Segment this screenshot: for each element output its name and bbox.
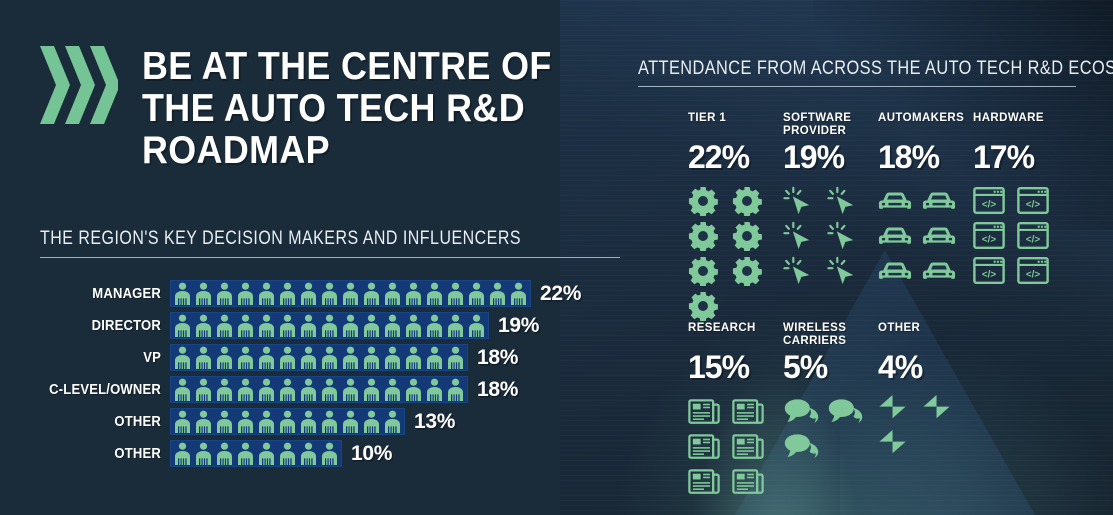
lightning-bolt-icon [878, 393, 922, 428]
person-icon [193, 314, 214, 337]
person-icon [277, 346, 298, 369]
person-icon [256, 346, 277, 369]
code-window-icon: </> [1017, 218, 1061, 253]
person-icon [235, 346, 256, 369]
person-icon [319, 282, 340, 305]
person-icon [403, 378, 424, 401]
person-icon [403, 346, 424, 369]
ecosystem-icon-group [688, 183, 776, 323]
bar-row-track [170, 344, 468, 371]
person-icon [193, 282, 214, 305]
person-icon [340, 282, 361, 305]
person-icon [319, 378, 340, 401]
cursor-click-icon [827, 253, 871, 288]
person-icon [445, 346, 466, 369]
code-window-icon: </> [973, 253, 1017, 288]
person-icon [382, 346, 403, 369]
ecosystem-icon-group [878, 393, 966, 463]
ecosystem-category-value: 4% [878, 350, 973, 384]
code-window-icon: </> [1017, 253, 1061, 288]
ecosystem-category: TIER 122% [688, 112, 783, 323]
person-icon [382, 410, 403, 433]
person-icon [172, 410, 193, 433]
ecosystem-category-label: WIRELESS CARRIERS [783, 322, 878, 348]
ecosystem-category: AUTOMAKERS18% [878, 112, 973, 323]
gear-icon [688, 183, 732, 218]
person-icon [298, 314, 319, 337]
person-icon [424, 314, 445, 337]
ecosystem-category-value: 22% [688, 140, 783, 174]
car-icon [922, 218, 966, 253]
code-window-icon: </> [1017, 183, 1061, 218]
person-icon [235, 314, 256, 337]
bar-row-label: VP [17, 350, 170, 366]
person-icon [361, 378, 382, 401]
person-icon [172, 314, 193, 337]
person-icon [445, 314, 466, 337]
triple-chevron-right-icon [40, 46, 118, 124]
bar-row-label: OTHER [17, 446, 170, 462]
person-icon [466, 282, 487, 305]
person-icon [319, 314, 340, 337]
speech-bubble-icon [783, 393, 827, 428]
person-icon [256, 442, 277, 465]
person-icon [382, 282, 403, 305]
ecosystem-icon-group [688, 393, 776, 498]
bar-row-label: MANAGER [17, 286, 170, 302]
ecosystem-grid-row-2: RESEARCH15%WIRELESS CARRIERS5%OTHER4% [688, 322, 1108, 498]
svg-text:</>: </> [1026, 234, 1040, 245]
person-icon [256, 282, 277, 305]
ecosystem-category-value: 19% [783, 140, 878, 174]
cursor-click-icon [827, 218, 871, 253]
cursor-click-icon [783, 218, 827, 253]
bar-row-label: OTHER [17, 414, 170, 430]
newspaper-icon [688, 428, 732, 463]
ecosystem-grid-row-1: TIER 122%SOFTWARE PROVIDER19%AUTOMAKERS1… [688, 112, 1108, 323]
car-icon [922, 183, 966, 218]
person-icon [256, 410, 277, 433]
gear-icon [688, 253, 732, 288]
person-icon [382, 314, 403, 337]
code-window-icon: </> [973, 183, 1017, 218]
person-icon [193, 410, 214, 433]
ecosystem-icon-group [783, 393, 871, 463]
page-title-line-3: ROADMAP [142, 130, 552, 172]
person-icon [172, 378, 193, 401]
person-icon [445, 282, 466, 305]
bar-chart-row: OTHER10% [0, 438, 600, 469]
person-icon [256, 378, 277, 401]
person-icon [319, 346, 340, 369]
person-icon [214, 314, 235, 337]
bar-row-value: 18% [477, 346, 518, 370]
person-icon [298, 346, 319, 369]
newspaper-icon [732, 428, 776, 463]
svg-text:</>: </> [982, 199, 996, 210]
car-icon [878, 183, 922, 218]
person-icon [172, 282, 193, 305]
cursor-click-icon [827, 183, 871, 218]
bar-row-value: 18% [477, 378, 518, 402]
ecosystem-category-value: 17% [973, 140, 1068, 174]
ecosystem-category-label: TIER 1 [688, 112, 783, 138]
bar-chart-row: C-LEVEL/OWNER18% [0, 374, 600, 405]
person-icon [424, 346, 445, 369]
left-panel: BE AT THE CENTRE OF THE AUTO TECH R&D RO… [0, 0, 600, 515]
bar-chart-row: MANAGER22% [0, 278, 600, 309]
person-icon [319, 410, 340, 433]
ecosystem-icon-group: </></></></></></> [973, 183, 1061, 288]
svg-text:</>: </> [982, 234, 996, 245]
newspaper-icon [688, 463, 732, 498]
person-icon [214, 378, 235, 401]
ecosystem-category: WIRELESS CARRIERS5% [783, 322, 878, 498]
person-icon [319, 442, 340, 465]
person-icon [214, 442, 235, 465]
ecosystem-category-label: OTHER [878, 322, 973, 348]
person-icon [193, 346, 214, 369]
person-icon [193, 442, 214, 465]
bar-row-track [170, 408, 405, 435]
bar-row-label: DIRECTOR [17, 318, 170, 334]
svg-text:</>: </> [982, 269, 996, 280]
left-section-title: THE REGION'S KEY DECISION MAKERS AND INF… [40, 228, 527, 250]
person-icon [424, 378, 445, 401]
person-icon [403, 314, 424, 337]
ecosystem-icon-group [783, 183, 871, 288]
ecosystem-category: SOFTWARE PROVIDER19% [783, 112, 878, 323]
car-icon [922, 253, 966, 288]
right-panel: ATTENDANCE FROM ACROSS THE AUTO TECH R&D… [600, 0, 1113, 515]
person-icon [340, 346, 361, 369]
person-icon [361, 346, 382, 369]
person-icon [277, 410, 298, 433]
person-icon [235, 378, 256, 401]
svg-text:</>: </> [1026, 269, 1040, 280]
decision-makers-pictogram-chart: MANAGER22%DIRECTOR19%VP18%C-LEVEL/OWNER1… [0, 278, 600, 470]
person-icon [340, 378, 361, 401]
ecosystem-category: HARDWARE17%</></></></></></> [973, 112, 1068, 323]
person-icon [298, 442, 319, 465]
person-icon [424, 282, 445, 305]
bar-row-value: 19% [498, 314, 539, 338]
gear-icon [732, 218, 776, 253]
ecosystem-category-label: SOFTWARE PROVIDER [783, 112, 878, 138]
person-icon [193, 378, 214, 401]
ecosystem-category: RESEARCH15% [688, 322, 783, 498]
person-icon [172, 346, 193, 369]
ecosystem-category-value: 5% [783, 350, 878, 384]
right-section-title: ATTENDANCE FROM ACROSS THE AUTO TECH R&D… [638, 58, 1015, 80]
bar-row-track [170, 280, 531, 307]
person-icon [466, 314, 487, 337]
person-icon [340, 410, 361, 433]
ecosystem-category-value: 15% [688, 350, 783, 384]
person-icon [361, 410, 382, 433]
bar-chart-row: OTHER13% [0, 406, 600, 437]
bar-row-value: 22% [540, 282, 581, 306]
left-section-divider [40, 257, 620, 258]
person-icon [277, 282, 298, 305]
bar-row-label: C-LEVEL/OWNER [17, 382, 170, 398]
newspaper-icon [688, 393, 732, 428]
bar-row-track [170, 376, 468, 403]
person-icon [235, 282, 256, 305]
person-icon [340, 314, 361, 337]
person-icon [277, 314, 298, 337]
page-title-line-2: THE AUTO TECH R&D [142, 88, 552, 130]
lightning-bolt-icon [878, 428, 922, 463]
person-icon [256, 314, 277, 337]
ecosystem-category: OTHER4% [878, 322, 973, 498]
person-icon [277, 442, 298, 465]
ecosystem-category-label: AUTOMAKERS [878, 112, 973, 138]
ecosystem-icon-group [878, 183, 966, 288]
bar-chart-row: VP18% [0, 342, 600, 373]
person-icon [214, 346, 235, 369]
ecosystem-category-label: HARDWARE [973, 112, 1068, 138]
person-icon [403, 282, 424, 305]
person-icon [445, 378, 466, 401]
person-icon [508, 282, 529, 305]
person-icon [235, 410, 256, 433]
person-icon [172, 442, 193, 465]
bar-row-value: 13% [414, 410, 455, 434]
gear-icon [688, 218, 732, 253]
lightning-bolt-icon [922, 393, 966, 428]
speech-bubble-icon [783, 428, 827, 463]
right-section-header: ATTENDANCE FROM ACROSS THE AUTO TECH R&D… [638, 58, 1076, 87]
gear-icon [732, 183, 776, 218]
person-icon [235, 442, 256, 465]
bar-chart-row: DIRECTOR19% [0, 310, 600, 341]
person-icon [298, 378, 319, 401]
ecosystem-category-label: RESEARCH [688, 322, 783, 348]
cursor-click-icon [783, 183, 827, 218]
person-icon [382, 378, 403, 401]
code-window-icon: </> [973, 218, 1017, 253]
speech-bubble-icon [827, 393, 871, 428]
person-icon [298, 410, 319, 433]
ecosystem-category-value: 18% [878, 140, 973, 174]
header-block: BE AT THE CENTRE OF THE AUTO TECH R&D RO… [40, 46, 587, 172]
page-title: BE AT THE CENTRE OF THE AUTO TECH R&D RO… [142, 46, 552, 172]
page-title-line-1: BE AT THE CENTRE OF [142, 46, 552, 88]
svg-text:</>: </> [1026, 199, 1040, 210]
gear-icon [688, 288, 732, 323]
person-icon [298, 282, 319, 305]
bar-row-track [170, 312, 489, 339]
car-icon [878, 218, 922, 253]
right-section-divider [638, 86, 1076, 87]
newspaper-icon [732, 463, 776, 498]
person-icon [214, 282, 235, 305]
person-icon [361, 282, 382, 305]
gear-icon [732, 253, 776, 288]
bar-row-value: 10% [351, 442, 392, 466]
car-icon [878, 253, 922, 288]
person-icon [361, 314, 382, 337]
newspaper-icon [732, 393, 776, 428]
person-icon [277, 378, 298, 401]
left-section-header: THE REGION'S KEY DECISION MAKERS AND INF… [40, 228, 620, 258]
bar-row-track [170, 440, 342, 467]
person-icon [487, 282, 508, 305]
person-icon [214, 410, 235, 433]
cursor-click-icon [783, 253, 827, 288]
